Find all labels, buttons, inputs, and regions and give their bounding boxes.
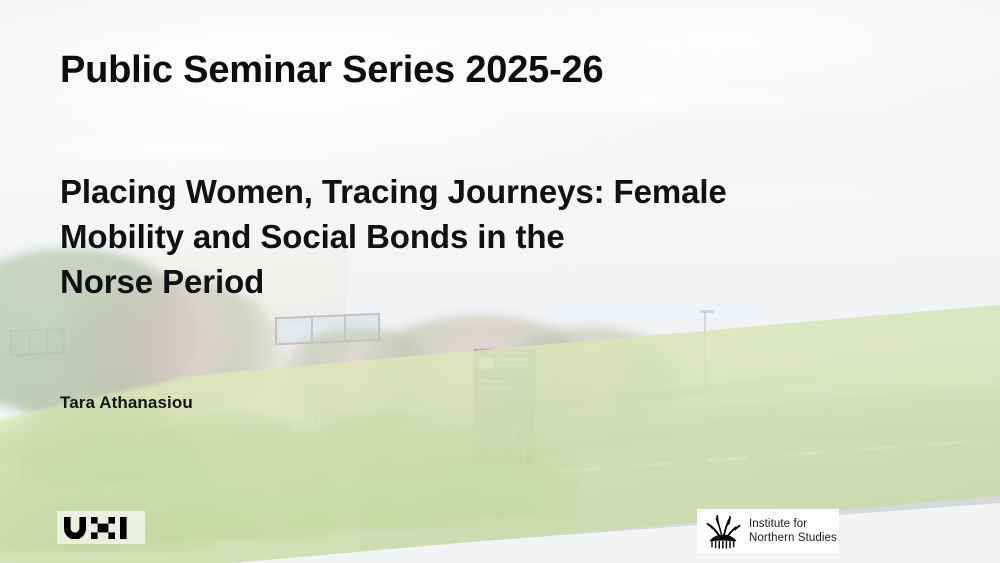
uhi-wordmark-icon — [64, 517, 138, 539]
title-line-1: Placing Women, Tracing Journeys: Female — [60, 170, 860, 215]
title-line-2: Mobility and Social Bonds in the — [60, 215, 860, 260]
institute-logo-line-2: Northern Studies — [749, 531, 837, 545]
title-line-3: Norse Period — [60, 260, 860, 305]
uhi-logo — [57, 511, 145, 544]
institute-logo-line-1: Institute for — [749, 517, 837, 531]
speaker-name: Tara Athanasiou — [60, 393, 193, 413]
institute-logo-text: Institute for Northern Studies — [749, 517, 837, 545]
antler-comb-icon — [703, 513, 743, 549]
institute-for-northern-studies-logo: Institute for Northern Studies — [697, 509, 839, 553]
presentation-slide: Public Seminar Series 2025-26 Placing Wo… — [0, 0, 1000, 563]
presentation-title: Placing Women, Tracing Journeys: Female … — [60, 170, 860, 305]
series-kicker: Public Seminar Series 2025-26 — [60, 50, 603, 92]
slide-content: Public Seminar Series 2025-26 Placing Wo… — [0, 0, 1000, 563]
